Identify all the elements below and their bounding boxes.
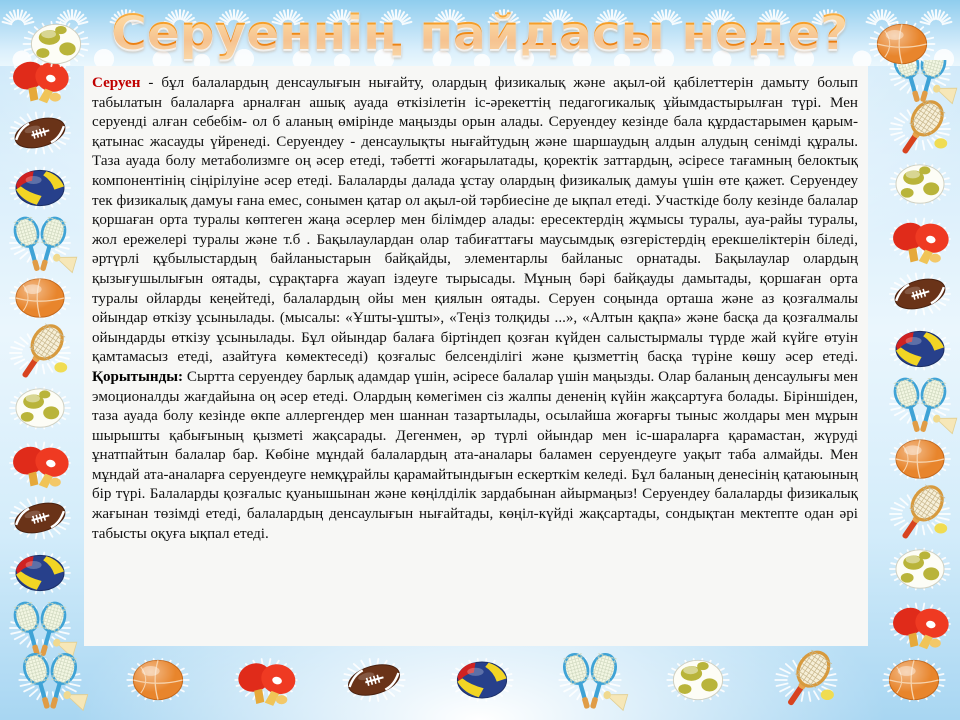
paragraph-one: - бұл балалардың денсаулығын нығайту, ол… [92,75,858,365]
volleyball-icon [10,553,70,594]
paragraph-two: Сыртта серуендеу барлық адамдар үшін, әс… [92,369,858,542]
article-body: Серуен - бұл балалардың денсаулығын ныға… [92,74,858,544]
ping-pong-paddles-icon [889,218,952,268]
conclusion-label: Қорытынды: [92,369,183,385]
ping-pong-paddles-icon [234,659,299,710]
left-decoration-rail [0,60,88,660]
page-title: Серуеннің пайдасы неде? [0,2,960,64]
top-left-decoration [4,8,124,78]
volleyball-icon [890,329,950,370]
soccer-ball-icon [890,549,950,590]
volleyball-icon [10,168,70,209]
right-decoration-rail [872,60,960,660]
badminton-rackets-icon [559,652,629,712]
basketball-icon [870,22,935,66]
ping-pong-paddles-icon [9,442,72,492]
soccer-ball-icon [24,22,89,66]
tennis-racket-icon [890,96,950,160]
badminton-rackets-icon [19,652,89,712]
american-football-icon [343,659,405,701]
american-football-icon [10,113,70,154]
soccer-ball-icon [890,164,950,205]
text-content-panel: Серуен - бұл балалардың денсаулығын ныға… [84,66,868,646]
basketball-icon [10,278,70,319]
tennis-racket-icon [775,646,837,712]
basketball-icon [883,659,945,701]
american-football-icon [890,274,950,315]
tennis-racket-icon [10,320,70,384]
soccer-ball-icon [667,659,729,701]
basketball-icon [890,439,950,480]
soccer-ball-icon [10,388,70,429]
bottom-decoration-rail [0,624,960,720]
presentation-slide: Серуеннің пайдасы неде? Серуен - бұл бал… [0,0,960,720]
basketball-icon [127,659,189,701]
american-football-icon [10,498,70,539]
volleyball-icon [451,659,513,701]
badminton-rackets-icon [890,376,958,434]
badminton-rackets-icon [10,215,78,273]
tennis-racket-icon [890,481,950,545]
top-right-decoration [836,8,956,78]
